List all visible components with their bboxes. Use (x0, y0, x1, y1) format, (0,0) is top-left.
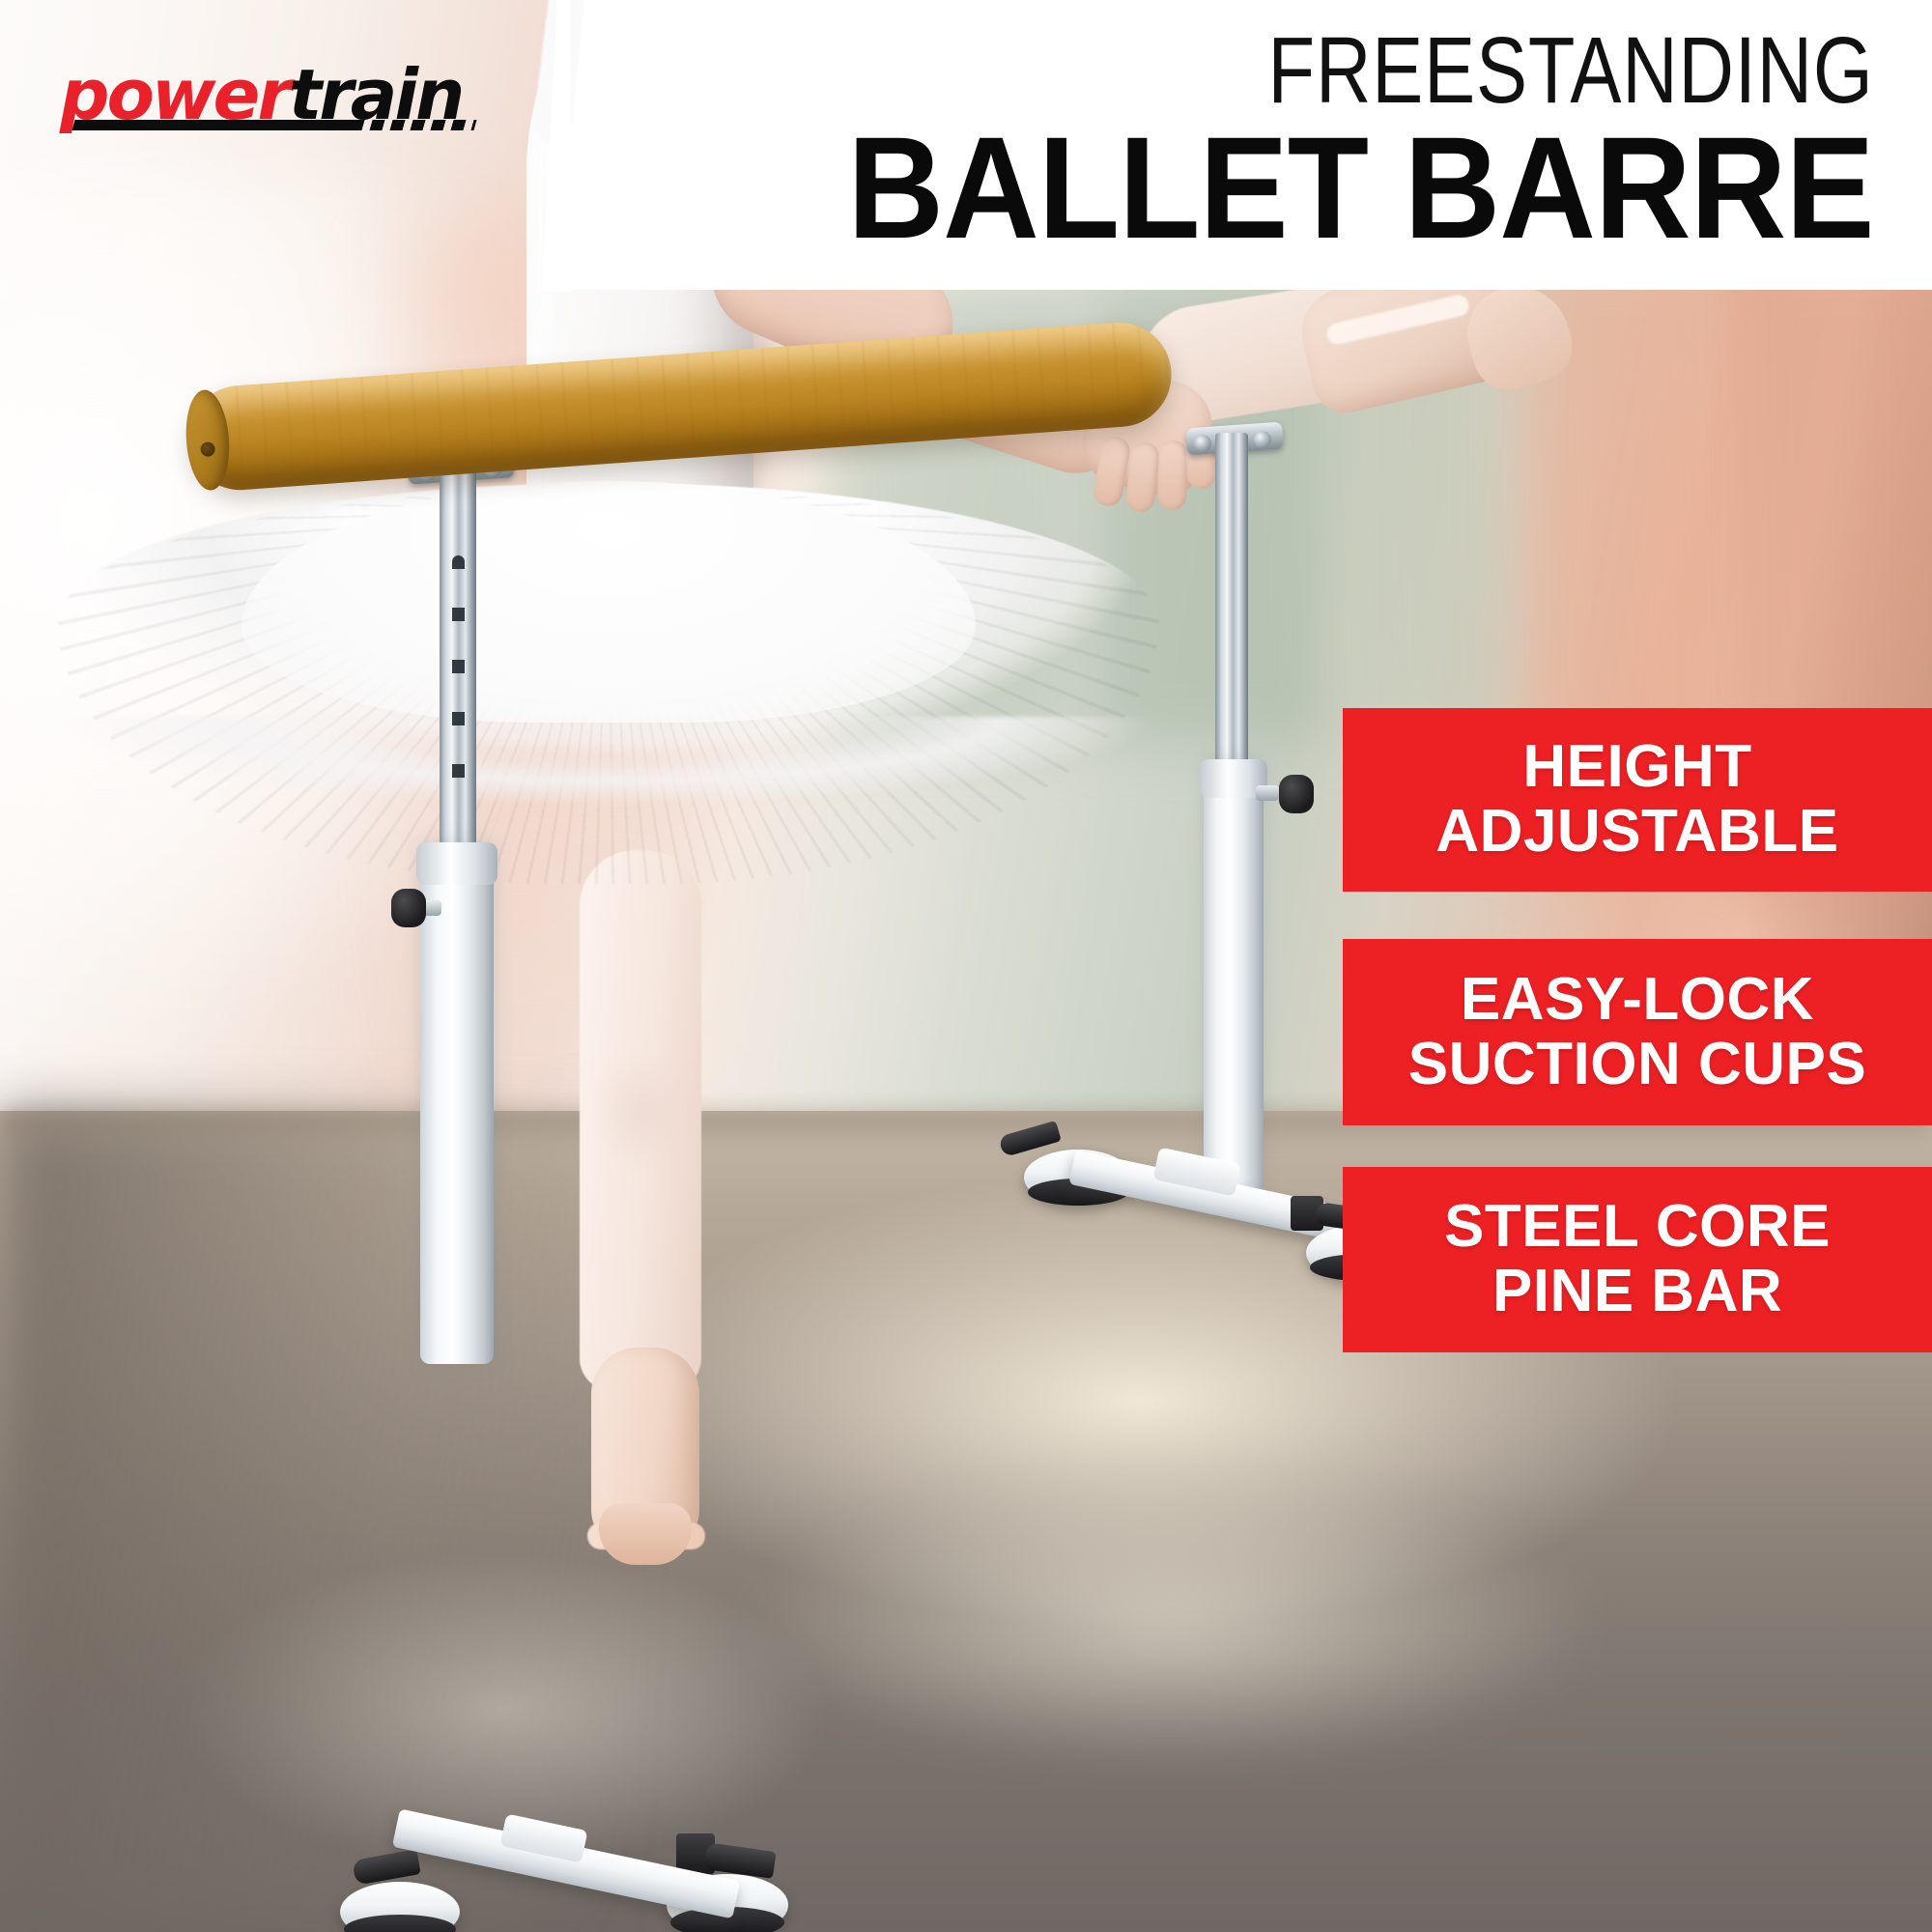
feature-badge-line-1: HEIGHT (1435, 735, 1838, 800)
chrome-post-right (1215, 433, 1248, 769)
feature-badge-text: HEIGHT ADJUSTABLE (1435, 735, 1838, 865)
white-tube-right (1204, 759, 1264, 1194)
finger (1157, 440, 1188, 510)
feature-badge-line-2: ADJUSTABLE (1435, 800, 1838, 865)
knob-head (1279, 775, 1314, 813)
feature-badge-line-1: EASY-LOCK (1408, 968, 1866, 1033)
knee-shading (591, 1053, 688, 1169)
feature-badge-height-adjustable: HEIGHT ADJUSTABLE (1343, 708, 1932, 892)
product-marketing-image: FREESTANDING BALLET BARRE powertrain HEI… (0, 0, 1932, 1932)
lock-knob-right (1256, 775, 1316, 811)
feature-badge-steel-core-pine-bar: STEEL CORE PINE BAR (1343, 1167, 1932, 1352)
suction-cup-ring (344, 1915, 456, 1932)
logo-underline-dashes (369, 120, 476, 130)
lock-knob-left (391, 889, 451, 927)
feature-badge-text: STEEL CORE PINE BAR (1444, 1195, 1831, 1324)
finger (1124, 441, 1160, 514)
height-adjustment-holes-left (452, 555, 465, 816)
page-title-line-2: BALLET BARRE (848, 118, 1874, 257)
brand-logo: powertrain (60, 60, 456, 137)
knob-stem (1256, 785, 1279, 801)
tube-collar-left (416, 842, 497, 885)
feature-badge-line-2: SUCTION CUPS (1408, 1033, 1866, 1097)
knob-head (391, 889, 426, 927)
feature-badge-easy-lock-suction-cups: EASY-LOCK SUCTION CUPS (1343, 939, 1932, 1125)
logo-underline-bar (71, 120, 364, 130)
feature-badge-line-2: PINE BAR (1444, 1260, 1831, 1324)
title-banner: FREESTANDING BALLET BARRE (555, 0, 1932, 290)
feature-badge-line-1: STEEL CORE (1444, 1195, 1831, 1260)
page-title-line-1: FREESTANDING (959, 25, 1874, 116)
title-block: FREESTANDING BALLET BARRE (758, 25, 1874, 257)
pointe-shoe-lower-tip (599, 1503, 692, 1565)
feature-badge-text: EASY-LOCK SUCTION CUPS (1408, 968, 1866, 1097)
